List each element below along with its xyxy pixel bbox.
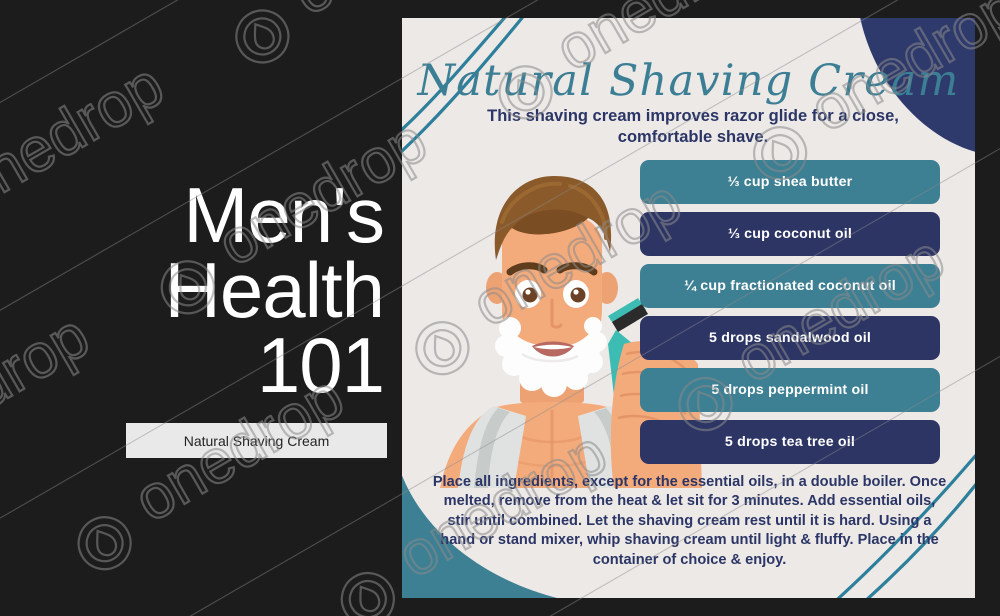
ingredient-label: ¼ cup fractionated coconut oil [684, 278, 896, 294]
ingredient-row: 5 drops peppermint oil [640, 368, 940, 412]
ingredient-label: 5 drops peppermint oil [711, 382, 868, 398]
ingredient-label: 5 drops tea tree oil [725, 434, 855, 450]
ingredient-row: ⅓ cup shea butter [640, 160, 940, 204]
ingredient-row: 5 drops sandalwood oil [640, 316, 940, 360]
brand-banner: Natural Shaving Cream [126, 423, 387, 458]
ingredient-row: 5 drops tea tree oil [640, 420, 940, 464]
left-brand-panel: Men's Health 101 Natural Shaving Cream [0, 0, 402, 616]
ingredient-row: ¼ cup fractionated coconut oil [640, 264, 940, 308]
ingredient-row: ⅓ cup coconut oil [640, 212, 940, 256]
ingredient-label: ⅓ cup coconut oil [728, 226, 852, 242]
instructions-text: Place all ingredients, except for the es… [432, 473, 947, 570]
poster-screenshot: Men's Health 101 Natural Shaving Cream N… [0, 0, 1000, 616]
ingredient-label: ⅓ cup shea butter [728, 174, 853, 190]
poster-subtitle: This shaving cream improves razor glide … [458, 106, 928, 148]
ingredients-list: ⅓ cup shea butter ⅓ cup coconut oil ¼ cu… [640, 160, 940, 472]
ingredient-label: 5 drops sandalwood oil [709, 330, 871, 346]
poster-title: Natural Shaving Cream [402, 56, 975, 106]
page-title: Men's Health 101 [14, 178, 384, 403]
recipe-poster: Natural Shaving Cream This shaving cream… [402, 18, 975, 598]
brand-banner-label: Natural Shaving Cream [184, 433, 330, 449]
